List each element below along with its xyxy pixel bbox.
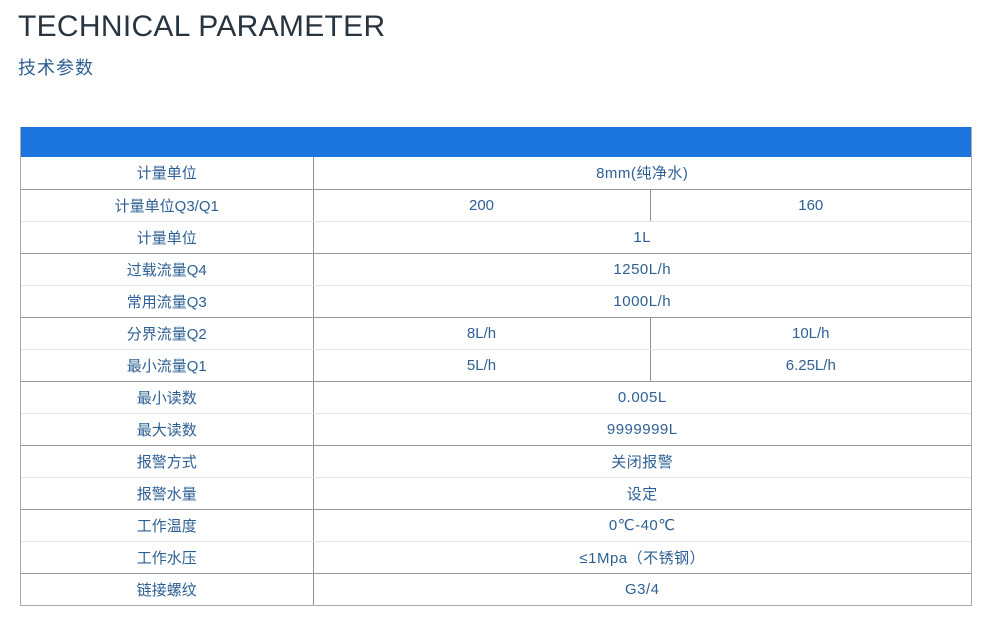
table-row: 最小读数0.005L bbox=[21, 381, 971, 413]
spec-label-cell: 链接螺纹 bbox=[21, 573, 313, 605]
spec-label-cell: 过载流量Q4 bbox=[21, 253, 313, 285]
table-row: 常用流量Q31000L/h bbox=[21, 285, 971, 317]
spec-value-cell: G3/4 bbox=[313, 573, 971, 605]
technical-parameter-page: TECHNICAL PARAMETER 技术参数 计量单位8mm(纯净水)计量单… bbox=[0, 0, 1006, 631]
spec-label-cell: 报警方式 bbox=[21, 445, 313, 477]
table-row: 计量单位8mm(纯净水) bbox=[21, 157, 971, 189]
page-title: TECHNICAL PARAMETER bbox=[18, 8, 918, 46]
spec-label-cell: 最小流量Q1 bbox=[21, 349, 313, 381]
spec-label-cell: 最大读数 bbox=[21, 413, 313, 445]
spec-table: 计量单位8mm(纯净水)计量单位Q3/Q1200160计量单位1L过载流量Q41… bbox=[21, 157, 971, 605]
page-subtitle: 技术参数 bbox=[18, 56, 918, 80]
spec-value-cell: 9999999L bbox=[313, 413, 971, 445]
table-row: 计量单位Q3/Q1200160 bbox=[21, 189, 971, 221]
table-row: 报警水量设定 bbox=[21, 477, 971, 509]
table-row: 分界流量Q28L/h10L/h bbox=[21, 317, 971, 349]
spec-value-cell-primary: 200 bbox=[313, 189, 650, 221]
spec-value-cell: 1250L/h bbox=[313, 253, 971, 285]
spec-value-cell: 0℃-40℃ bbox=[313, 509, 971, 541]
spec-value-cell: 8mm(纯净水) bbox=[313, 157, 971, 189]
spec-value-cell-secondary: 160 bbox=[650, 189, 971, 221]
table-row: 工作水压≤1Mpa（不锈钢） bbox=[21, 541, 971, 573]
spec-label-cell: 工作水压 bbox=[21, 541, 313, 573]
table-row: 链接螺纹G3/4 bbox=[21, 573, 971, 605]
spec-value-cell-primary: 5L/h bbox=[313, 349, 650, 381]
table-row: 最小流量Q15L/h6.25L/h bbox=[21, 349, 971, 381]
spec-label-cell: 计量单位Q3/Q1 bbox=[21, 189, 313, 221]
table-row: 工作温度0℃-40℃ bbox=[21, 509, 971, 541]
spec-value-cell-secondary: 10L/h bbox=[650, 317, 971, 349]
spec-label-cell: 报警水量 bbox=[21, 477, 313, 509]
spec-label-cell: 最小读数 bbox=[21, 381, 313, 413]
table-row: 报警方式关闭报警 bbox=[21, 445, 971, 477]
table-row: 计量单位1L bbox=[21, 221, 971, 253]
spec-value-cell: 设定 bbox=[313, 477, 971, 509]
spec-value-cell: 1L bbox=[313, 221, 971, 253]
spec-label-cell: 分界流量Q2 bbox=[21, 317, 313, 349]
spec-value-cell-primary: 8L/h bbox=[313, 317, 650, 349]
table-row: 过载流量Q41250L/h bbox=[21, 253, 971, 285]
spec-label-cell: 常用流量Q3 bbox=[21, 285, 313, 317]
spec-table-container: 计量单位8mm(纯净水)计量单位Q3/Q1200160计量单位1L过载流量Q41… bbox=[20, 127, 972, 606]
spec-value-cell: 0.005L bbox=[313, 381, 971, 413]
spec-label-cell: 计量单位 bbox=[21, 221, 313, 253]
spec-value-cell: 关闭报警 bbox=[313, 445, 971, 477]
spec-value-cell: 1000L/h bbox=[313, 285, 971, 317]
spec-value-cell: ≤1Mpa（不锈钢） bbox=[313, 541, 971, 573]
spec-label-cell: 工作温度 bbox=[21, 509, 313, 541]
spec-label-cell: 计量单位 bbox=[21, 157, 313, 189]
spec-table-body: 计量单位8mm(纯净水)计量单位Q3/Q1200160计量单位1L过载流量Q41… bbox=[21, 157, 971, 605]
spec-table-header-bar bbox=[21, 127, 971, 157]
spec-value-cell-secondary: 6.25L/h bbox=[650, 349, 971, 381]
heading-block: TECHNICAL PARAMETER 技术参数 bbox=[18, 8, 918, 80]
table-row: 最大读数9999999L bbox=[21, 413, 971, 445]
